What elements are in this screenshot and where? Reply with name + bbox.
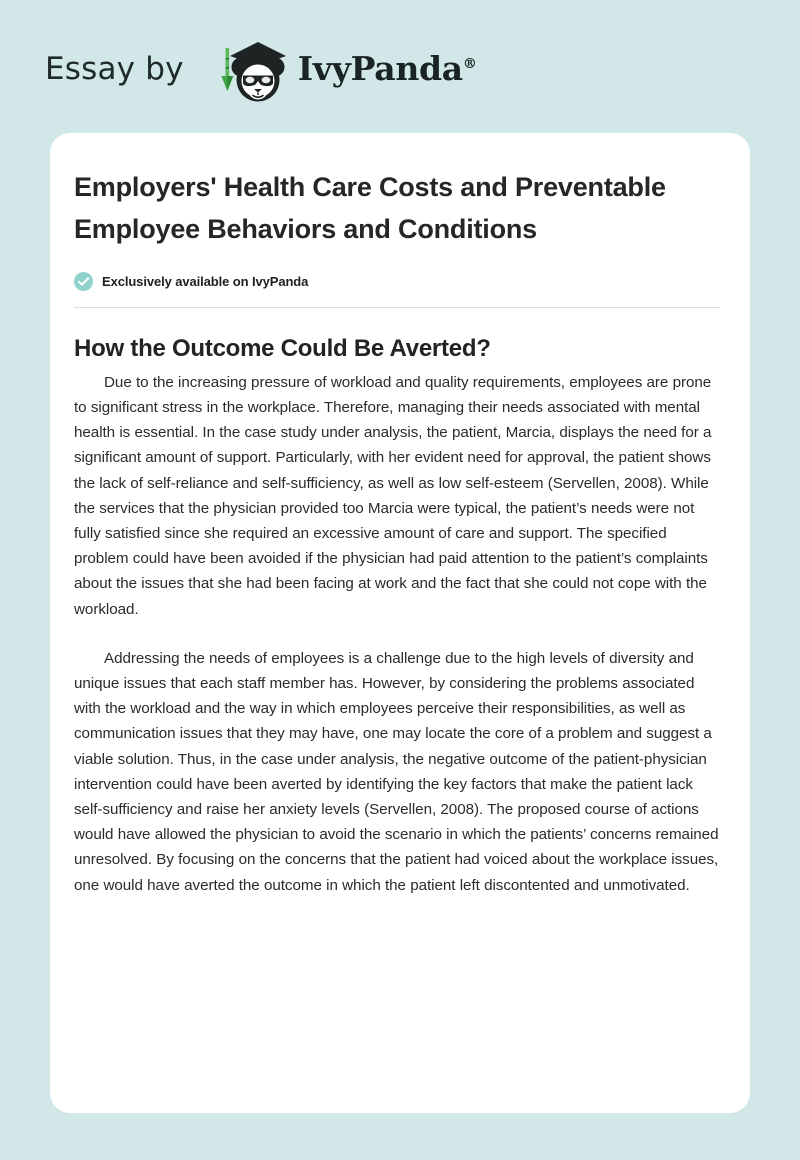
body-paragraph: Addressing the needs of employees is a c… bbox=[74, 646, 724, 898]
brand-header: Essay by bbox=[45, 34, 477, 106]
page-title: Employers' Health Care Costs and Prevent… bbox=[74, 167, 724, 250]
document-card: Employers' Health Care Costs and Prevent… bbox=[50, 133, 750, 1113]
exclusivity-badge: Exclusively available on IvyPanda bbox=[74, 272, 724, 291]
panda-graduate-logo-icon bbox=[204, 34, 290, 106]
section-heading: How the Outcome Could Be Averted? bbox=[74, 335, 724, 364]
exclusivity-badge-label: Exclusively available on IvyPanda bbox=[102, 274, 308, 289]
brand-prefix-label: Essay by bbox=[45, 54, 184, 87]
section-divider bbox=[74, 307, 720, 308]
essay-body: Due to the increasing pressure of worklo… bbox=[74, 364, 724, 898]
check-circle-icon bbox=[74, 272, 93, 291]
body-paragraph: Due to the increasing pressure of worklo… bbox=[74, 370, 724, 622]
brand-wordmark: IvyPanda® bbox=[298, 52, 477, 88]
registered-trademark-icon: ® bbox=[463, 56, 477, 72]
essay-page: Essay by bbox=[0, 0, 800, 1160]
brand-wordmark-text: IvyPanda bbox=[298, 49, 463, 88]
